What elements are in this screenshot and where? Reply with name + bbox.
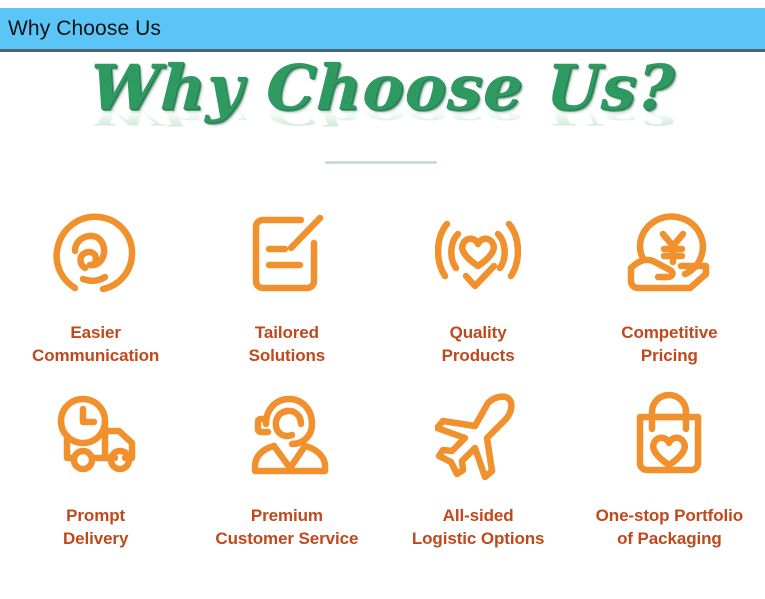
hero-banner: Why Choose Us? Why Choose Us? (0, 55, 765, 175)
hero-divider (325, 161, 437, 164)
feature-item-easier-communication[interactable]: Easier Communication (0, 196, 191, 379)
feature-item-one-stop-portfolio-of-packaging[interactable]: One-stop Portfolio of Packaging (574, 379, 765, 562)
truck-clock-icon (48, 385, 144, 489)
page-title: Why Choose Us (0, 18, 161, 39)
feature-label: All-sided Logistic Options (412, 505, 545, 550)
feature-item-tailored-solutions[interactable]: Tailored Solutions (191, 196, 382, 379)
hero-wordmark-container: Why Choose Us? Why Choose Us? (0, 55, 765, 120)
feature-item-quality-products[interactable]: Quality Products (383, 196, 574, 379)
feature-label: Competitive Pricing (621, 322, 717, 367)
airplane-icon (430, 385, 526, 489)
hero-wordmark-reflection: Why Choose Us? (0, 102, 765, 129)
feature-item-all-sided-logistic-options[interactable]: All-sided Logistic Options (383, 379, 574, 562)
document-pencil-icon (239, 202, 335, 306)
feature-item-competitive-pricing[interactable]: Competitive Pricing (574, 196, 765, 379)
hand-yen-coin-icon (621, 202, 717, 306)
feature-item-premium-customer-service[interactable]: Premium Customer Service (191, 379, 382, 562)
page-root: Why Choose Us Why Choose Us? Why Choose … (0, 0, 765, 599)
feature-label: Prompt Delivery (63, 505, 128, 550)
feature-label: One-stop Portfolio of Packaging (596, 505, 743, 550)
feature-item-prompt-delivery[interactable]: Prompt Delivery (0, 379, 191, 562)
heart-signal-check-icon (430, 202, 526, 306)
feature-label: Tailored Solutions (249, 322, 326, 367)
feature-label: Quality Products (442, 322, 515, 367)
feature-label: Premium Customer Service (215, 505, 358, 550)
feature-label: Easier Communication (32, 322, 159, 367)
feature-grid: Easier Communication Tailored Solutions (0, 196, 765, 562)
headset-agent-icon (239, 385, 335, 489)
shopping-bag-heart-icon (621, 385, 717, 489)
window-header-bar: Why Choose Us (0, 8, 765, 52)
ear-listening-icon (48, 202, 144, 306)
